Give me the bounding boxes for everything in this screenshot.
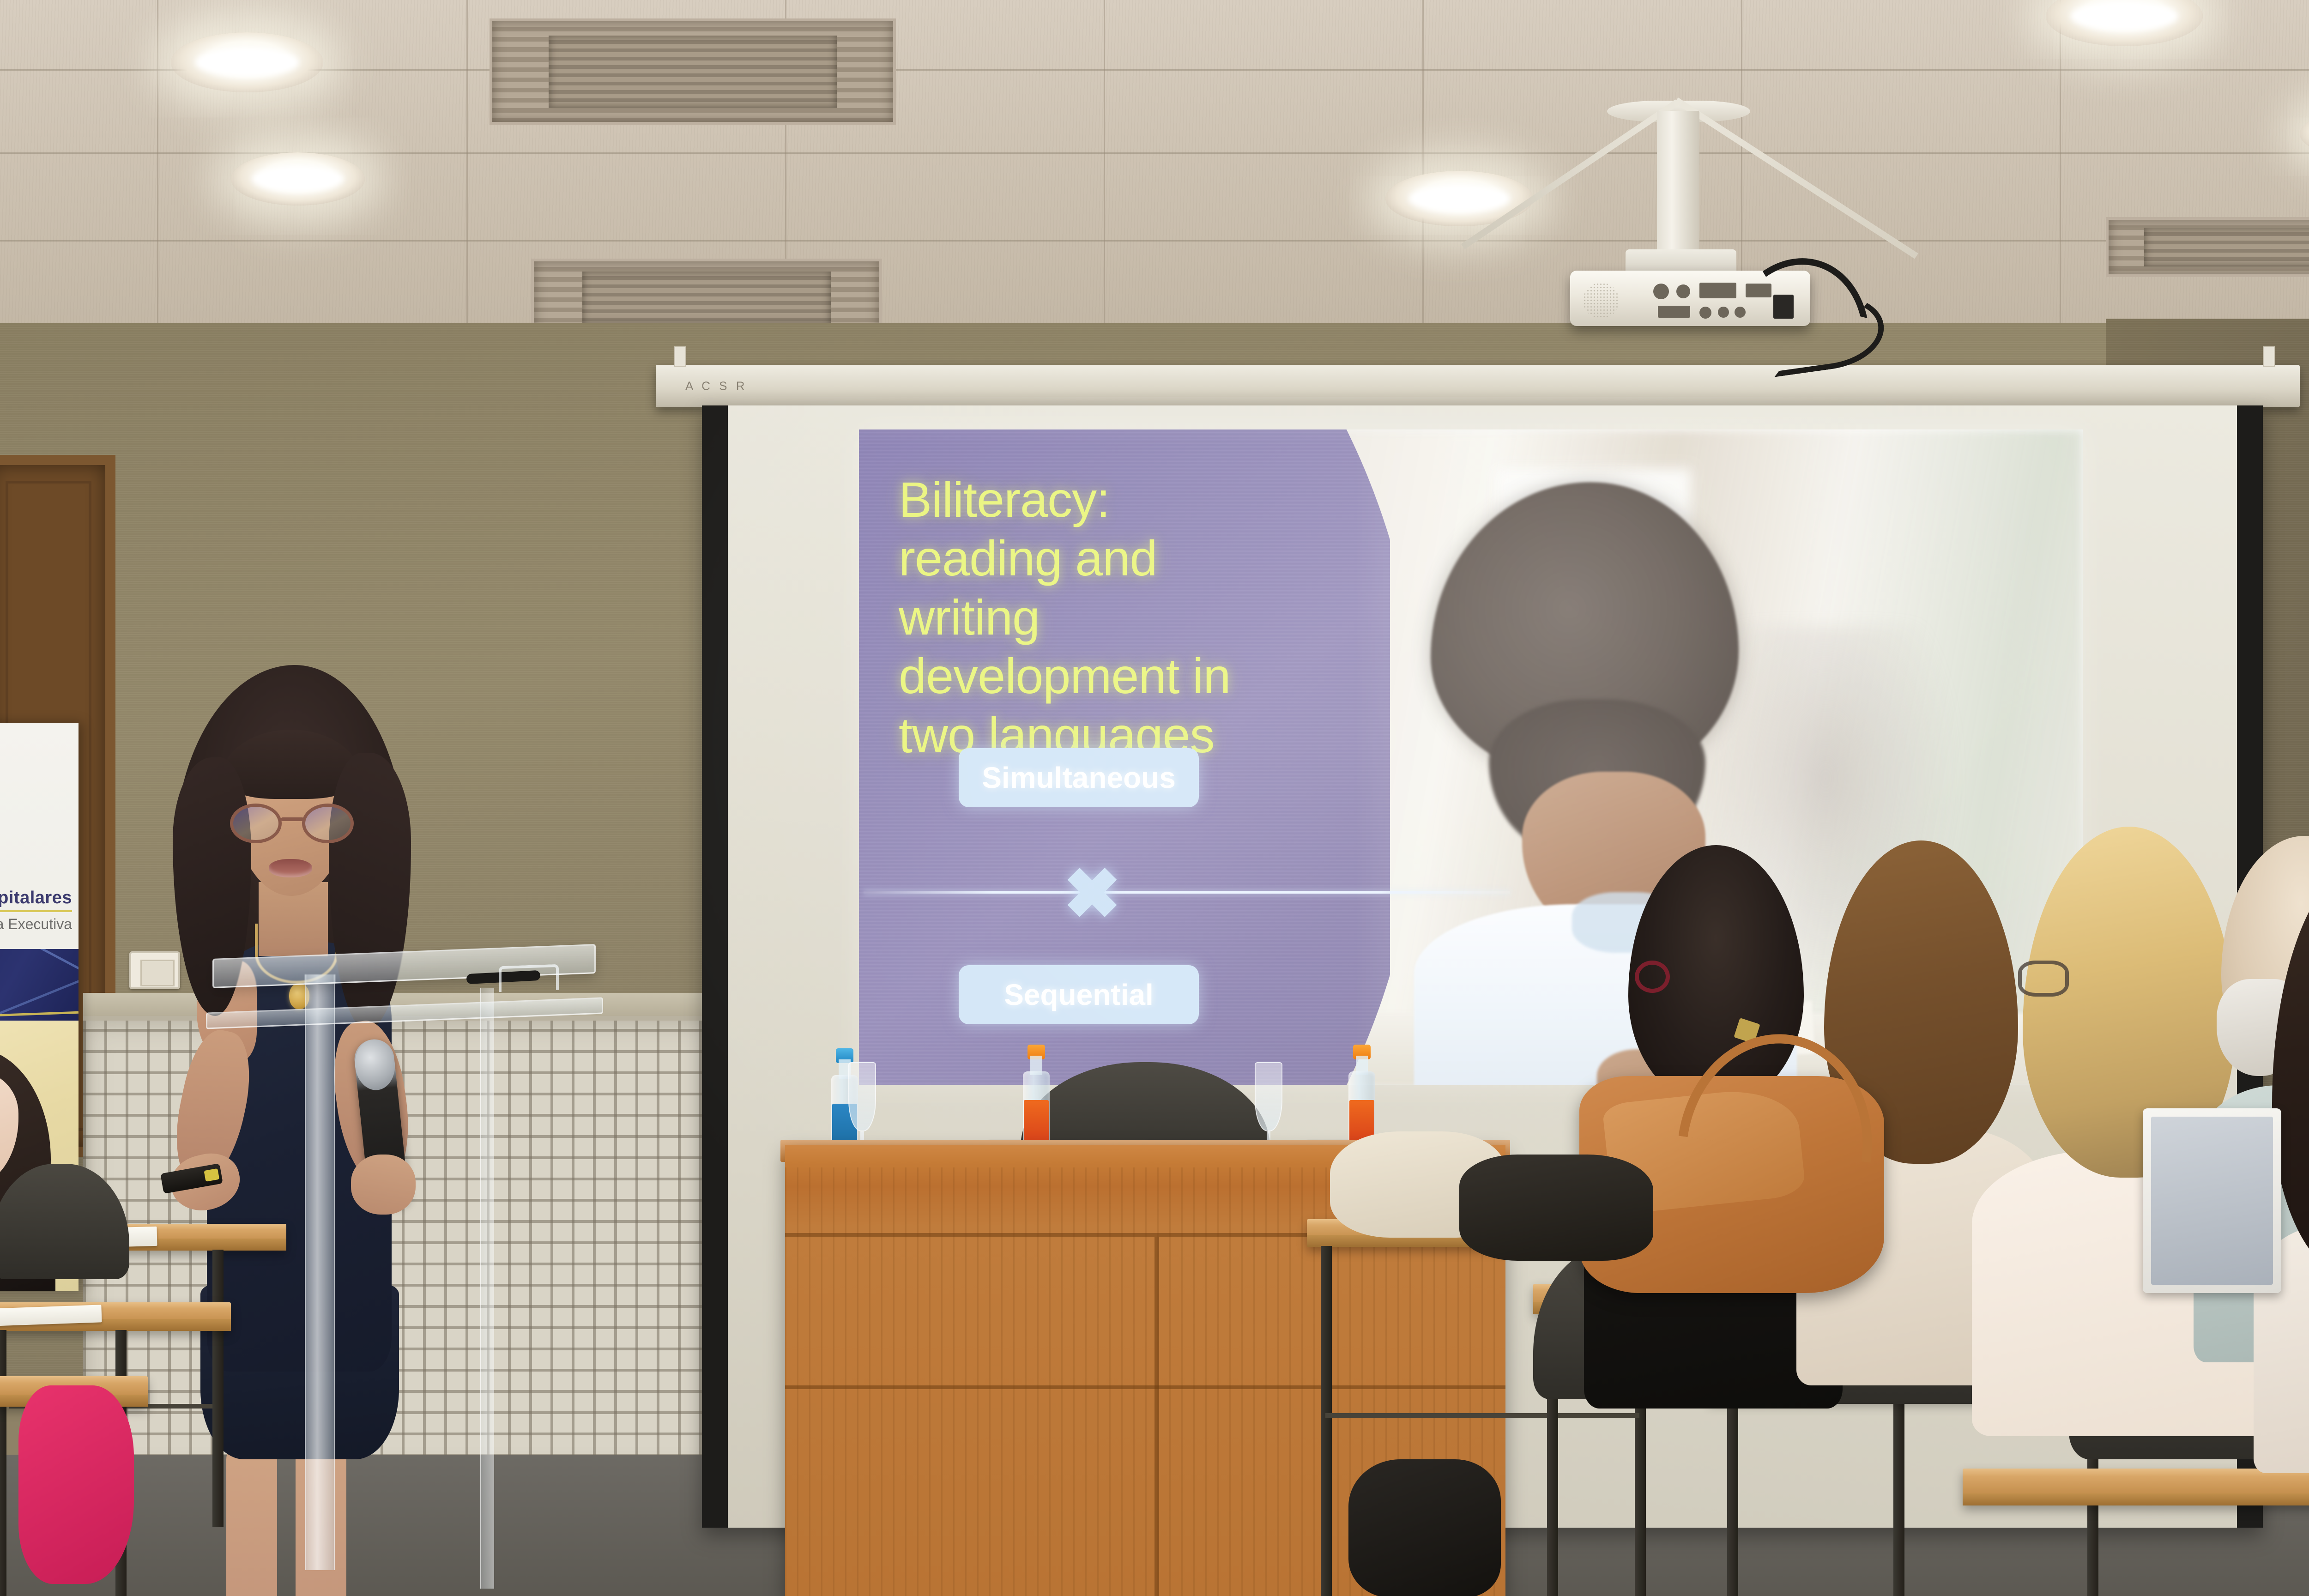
lectern-stem <box>305 974 335 1570</box>
banner-accent-rule <box>0 910 72 912</box>
banner-subtitle: derança Executiva <box>0 916 72 933</box>
dark-jacket-on-desk <box>1459 1155 1653 1261</box>
pineapple-print <box>1989 1251 2013 1294</box>
desk <box>1963 1469 2309 1505</box>
screen-brand-label: A C S R <box>685 379 747 393</box>
ceiling-air-vent <box>490 18 896 125</box>
conference-room-photo: A C S R Biliteracy: reading and writing … <box>0 0 2309 1596</box>
presenter-right-hand <box>351 1155 416 1215</box>
projector-speaker-grille <box>1583 283 1619 319</box>
black-bag <box>1348 1459 1501 1596</box>
pineapple-print <box>2046 1293 2085 1362</box>
slide-chip-simultaneous: Simultaneous <box>959 748 1199 807</box>
slide-chip-sequential: Sequential <box>959 965 1199 1024</box>
slide-title: Biliteracy: reading and writing developm… <box>899 470 1273 764</box>
banner-title: s Hospitalares <box>0 888 72 908</box>
pineapple-print <box>2128 1332 2160 1388</box>
presenter-legs <box>226 1445 365 1596</box>
lectern-side-panel <box>480 988 494 1589</box>
ceiling-downlight <box>171 32 323 92</box>
glasses-icon <box>230 804 354 843</box>
projector-pole <box>1657 111 1699 263</box>
laptop[interactable] <box>2143 1108 2281 1293</box>
projection-screen-housing: A C S R <box>656 365 2300 407</box>
ceiling-air-vent <box>2106 217 2309 277</box>
slide-divider <box>864 891 1510 894</box>
banner-navy-band <box>0 949 79 1021</box>
lectern-paper-clip <box>499 964 559 992</box>
x-icon: ✖ <box>1058 859 1127 928</box>
ceiling-downlight <box>231 152 365 206</box>
pink-bag <box>18 1385 134 1584</box>
laptop-screen <box>2151 1117 2273 1285</box>
presenter <box>152 665 439 1593</box>
screen-border-left <box>702 405 728 1528</box>
